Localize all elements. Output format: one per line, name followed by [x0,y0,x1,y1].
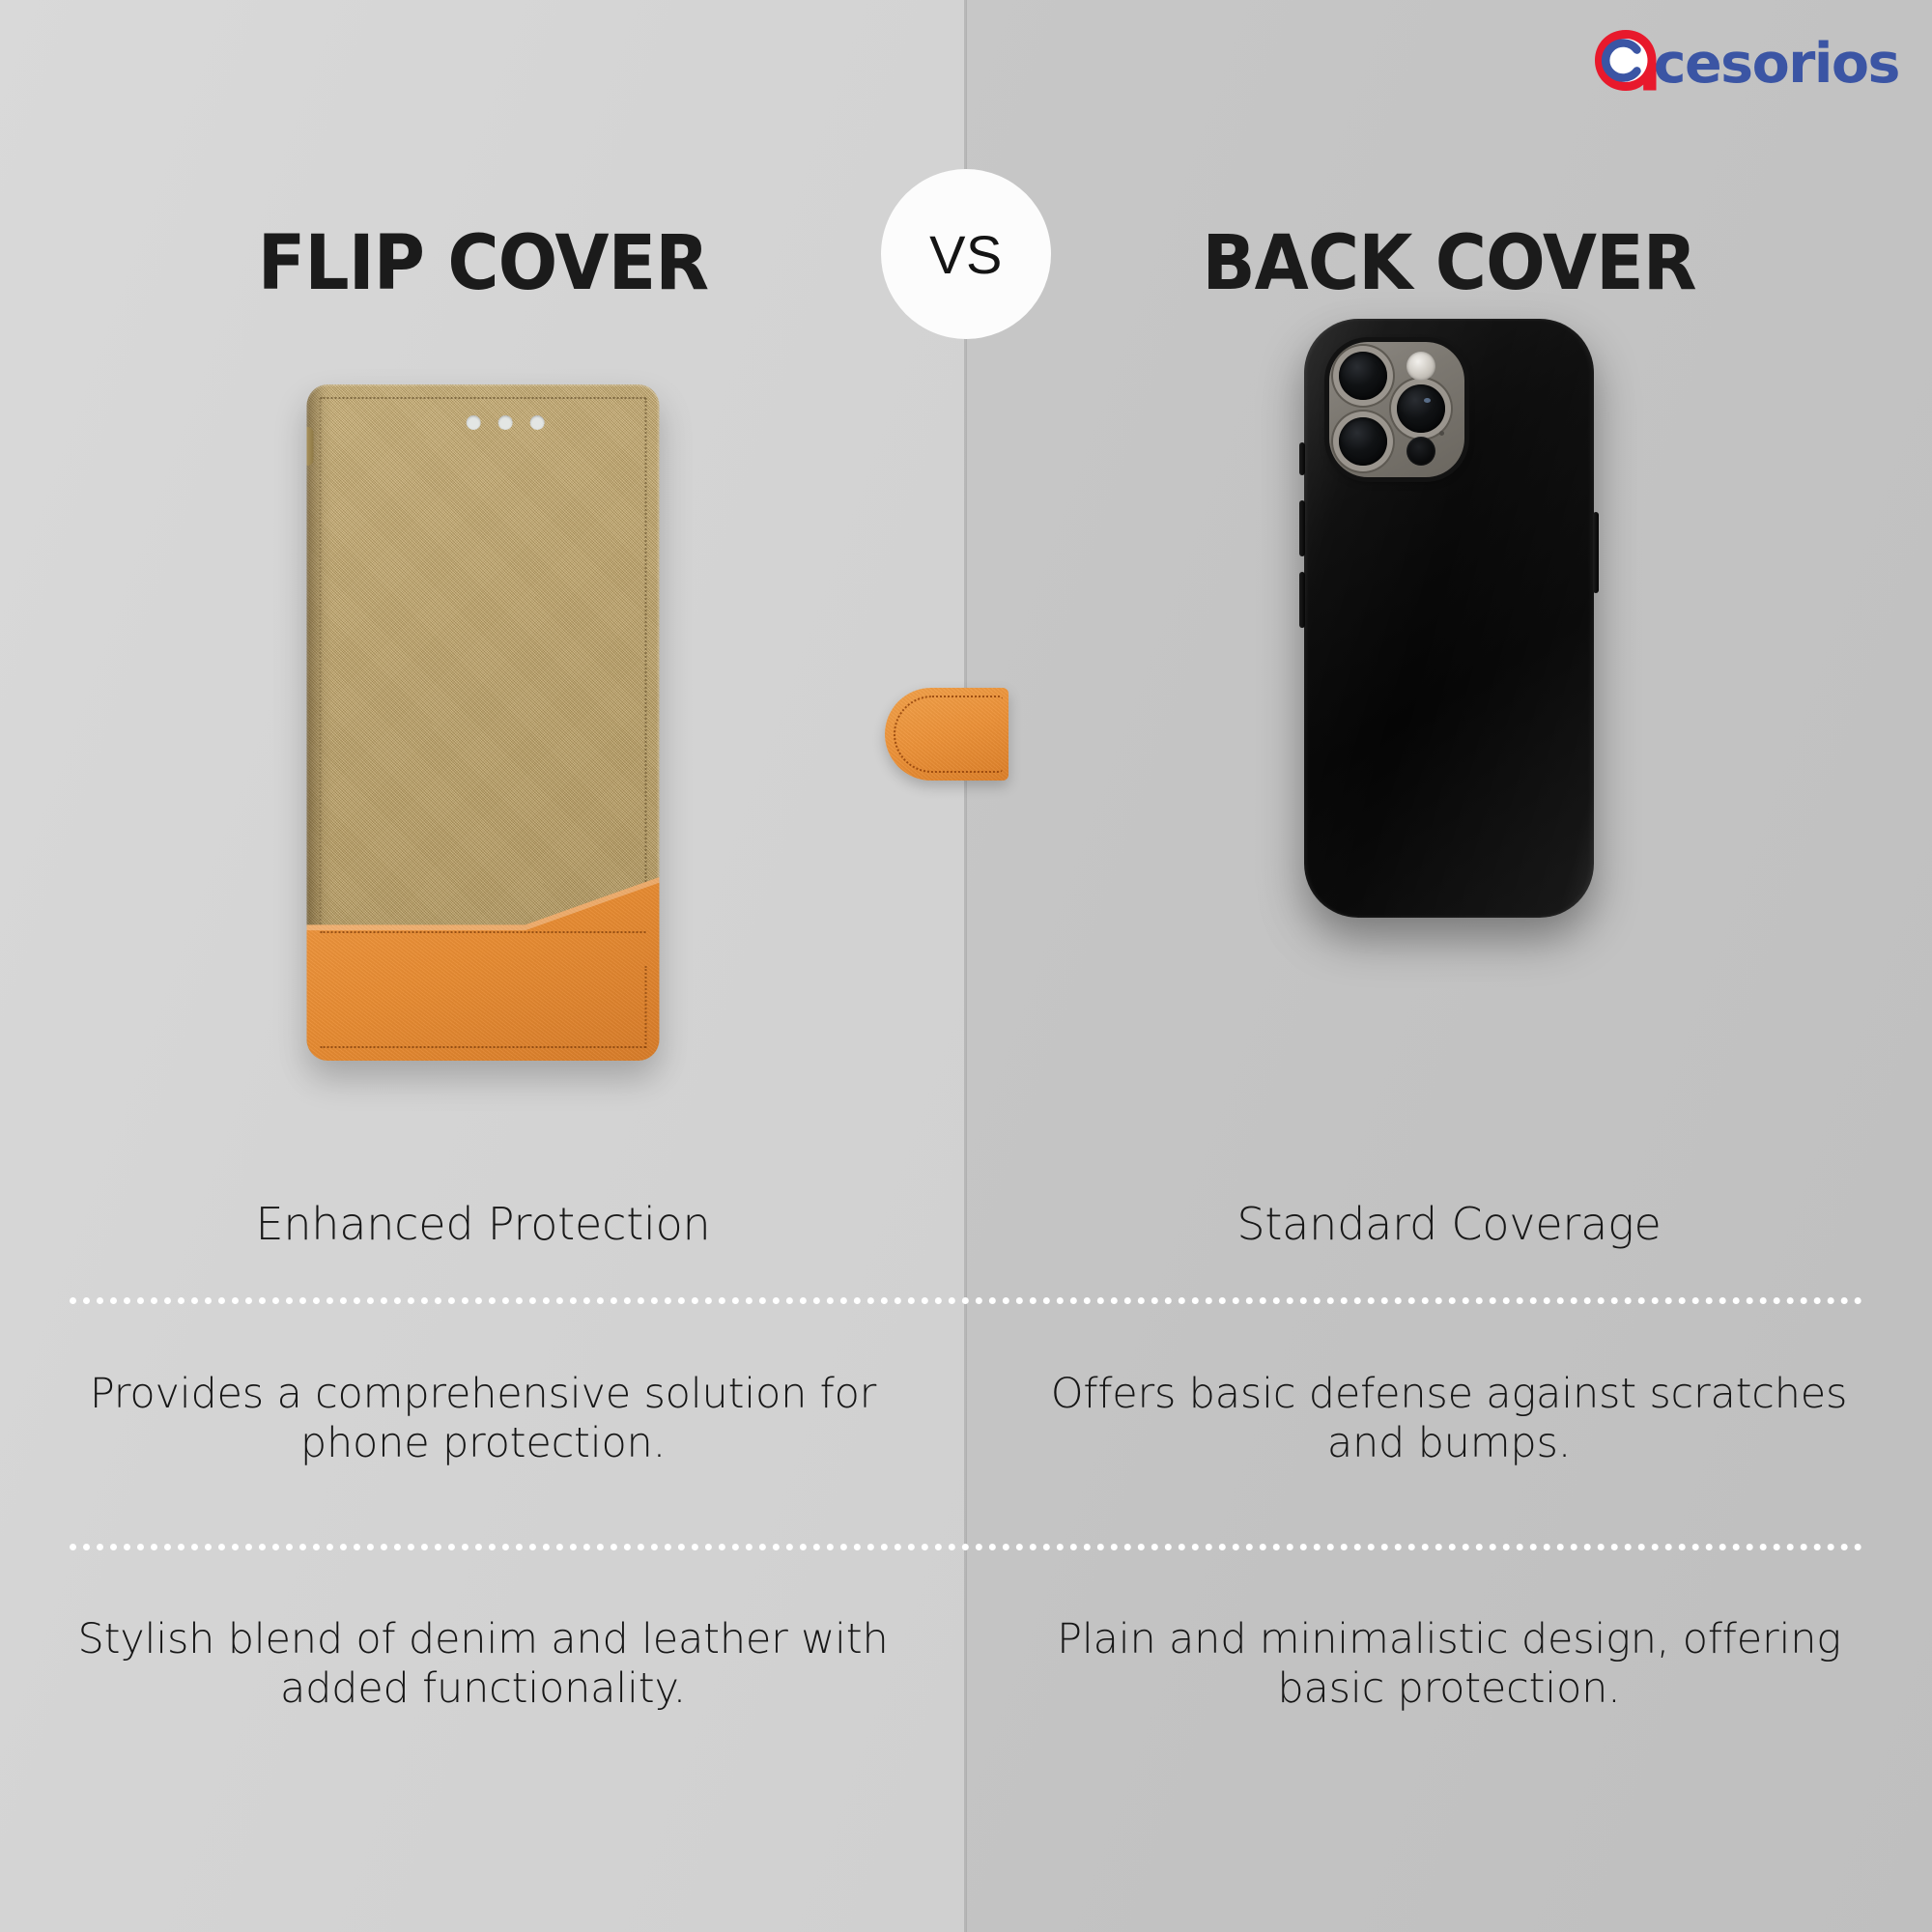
flip-cover-top-stitching [321,397,646,399]
right-product-stage [966,367,1932,1140]
vs-badge: VS [881,169,1051,339]
right-feature-1: Offers basic defense against scratches a… [1030,1370,1868,1467]
camera-dot [497,415,512,430]
flip-cover-leather-panel [307,877,660,1061]
comparison-infographic: cesorios FLIP COVER BACK COVER VS [0,0,1932,1932]
flip-cover-product-image [307,384,660,1061]
microphone-dot-icon [1439,431,1444,436]
left-feature-1: Provides a comprehensive solution for ph… [64,1370,902,1467]
lens-glint [1424,398,1431,403]
volume-down-cutout [1299,572,1305,628]
back-cover-product-image [1304,319,1594,918]
mute-switch-cutout [1299,442,1305,475]
power-button-cutout [1593,512,1599,593]
right-title: BACK COVER [1000,220,1898,307]
left-feature-2: Stylish blend of denim and leather with … [64,1615,902,1713]
volume-up-cutout [1299,500,1305,556]
flip-cover-spine-tab [307,427,314,466]
flip-cover-magnetic-flap [885,688,1009,781]
dotted-divider-top [70,1297,1862,1304]
left-title: FLIP COVER [34,220,932,307]
dotted-divider-bottom [70,1544,1862,1550]
brand-name: cesorios [1654,37,1899,92]
lidar-sensor-icon [1406,437,1435,466]
flip-cover-camera-dots [466,415,544,430]
camera-lens-icon [1339,417,1387,466]
acesorios-a-logo-icon [1591,26,1661,96]
camera-lens-icon [1339,352,1387,400]
camera-dot [466,415,480,430]
right-feature-2: Plain and minimalistic design, offering … [1030,1615,1868,1713]
camera-module [1329,342,1464,477]
left-product-stage [0,367,966,1140]
camera-lens-icon [1397,384,1445,433]
camera-flash-icon [1406,352,1435,381]
brand-logo: cesorios [1591,23,1899,99]
left-caption: Enhanced Protection [0,1198,966,1251]
right-caption: Standard Coverage [966,1198,1932,1251]
camera-dot [529,415,544,430]
